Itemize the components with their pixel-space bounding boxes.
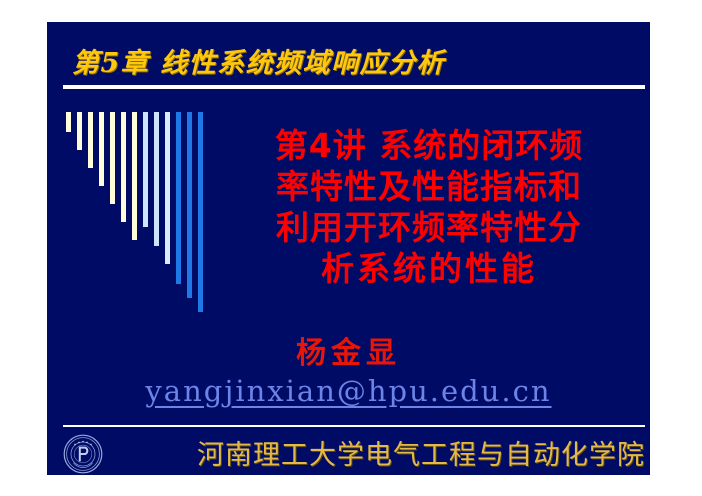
decorative-bar-10 [165,112,170,264]
decorative-bar-9 [154,112,159,246]
chapter-title-row: 第5章 线性系统频域响应分析 [72,36,632,84]
author-name: 杨金显 [47,328,650,372]
chapter-title: 第5章 线性系统频域响应分析 [72,41,445,80]
decorative-bar-7 [132,112,137,240]
decorative-bar-13 [198,112,203,312]
decorative-bar-graphic [66,112,226,312]
slide-footer: 河南理工大学电气工程与自动化学院 [47,430,650,475]
email-row: yangjinxian@hpu.edu.cn [47,374,650,408]
title-divider-rule [63,85,645,89]
lecture-headline: 第4讲 系统的闭环频 率特性及性能指标和 利用开环频率特性分 析系统的性能 [213,125,645,289]
slide-panel: 第5章 线性系统频域响应分析 第4讲 系统的闭环频 率特性及性能指标和 利用开环… [47,22,650,475]
headline-line-3: 利用开环频率特性分 [213,207,645,248]
decorative-bar-4 [99,112,104,186]
decorative-bar-11 [176,112,181,284]
university-emblem-icon [63,434,103,474]
decorative-bar-2 [77,112,82,150]
email-link[interactable]: yangjinxian@hpu.edu.cn [145,374,551,408]
decorative-bar-6 [121,112,126,222]
decorative-bar-8 [143,112,148,227]
slide-canvas: 第5章 线性系统频域响应分析 第4讲 系统的闭环频 率特性及性能指标和 利用开环… [0,0,702,496]
headline-line-1: 第4讲 系统的闭环频 [213,125,645,166]
decorative-bar-1 [66,112,71,132]
footer-organization: 河南理工大学电气工程与自动化学院 [197,430,645,475]
decorative-bar-12 [187,112,192,298]
footer-divider-rule [63,425,645,427]
decorative-bar-3 [88,112,93,168]
headline-line-4: 析系统的性能 [213,248,645,289]
decorative-bar-5 [110,112,115,204]
headline-line-2: 率特性及性能指标和 [213,166,645,207]
